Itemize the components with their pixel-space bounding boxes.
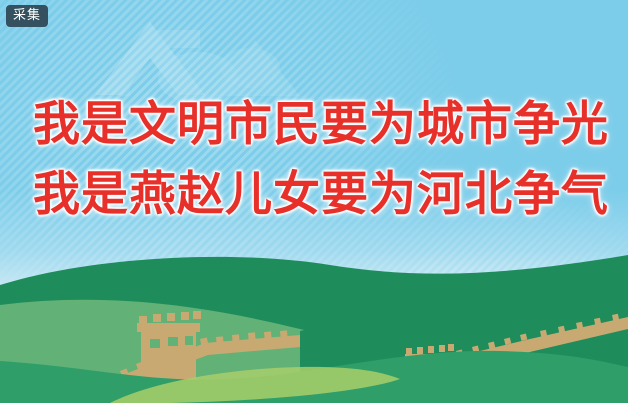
landscape-illustration — [0, 243, 628, 403]
banner-image: 我是文明市民 要为城市争光 我是燕赵儿女 要为河北争气 采集 — [0, 0, 628, 403]
slogan-line-1-right: 要为城市争光 — [321, 96, 609, 154]
slogan-line-1: 我是文明市民 要为城市争光 — [33, 96, 603, 154]
slogan-line-2: 我是燕赵儿女 要为河北争气 — [33, 166, 603, 224]
slogan-line-1-left: 我是文明市民 — [33, 96, 321, 154]
capture-button[interactable]: 采集 — [6, 5, 48, 27]
slogan-text-block: 我是文明市民 要为城市争光 我是燕赵儿女 要为河北争气 — [33, 96, 603, 236]
slogan-line-2-left: 我是燕赵儿女 — [33, 166, 321, 224]
slogan-line-2-right: 要为河北争气 — [321, 166, 609, 224]
